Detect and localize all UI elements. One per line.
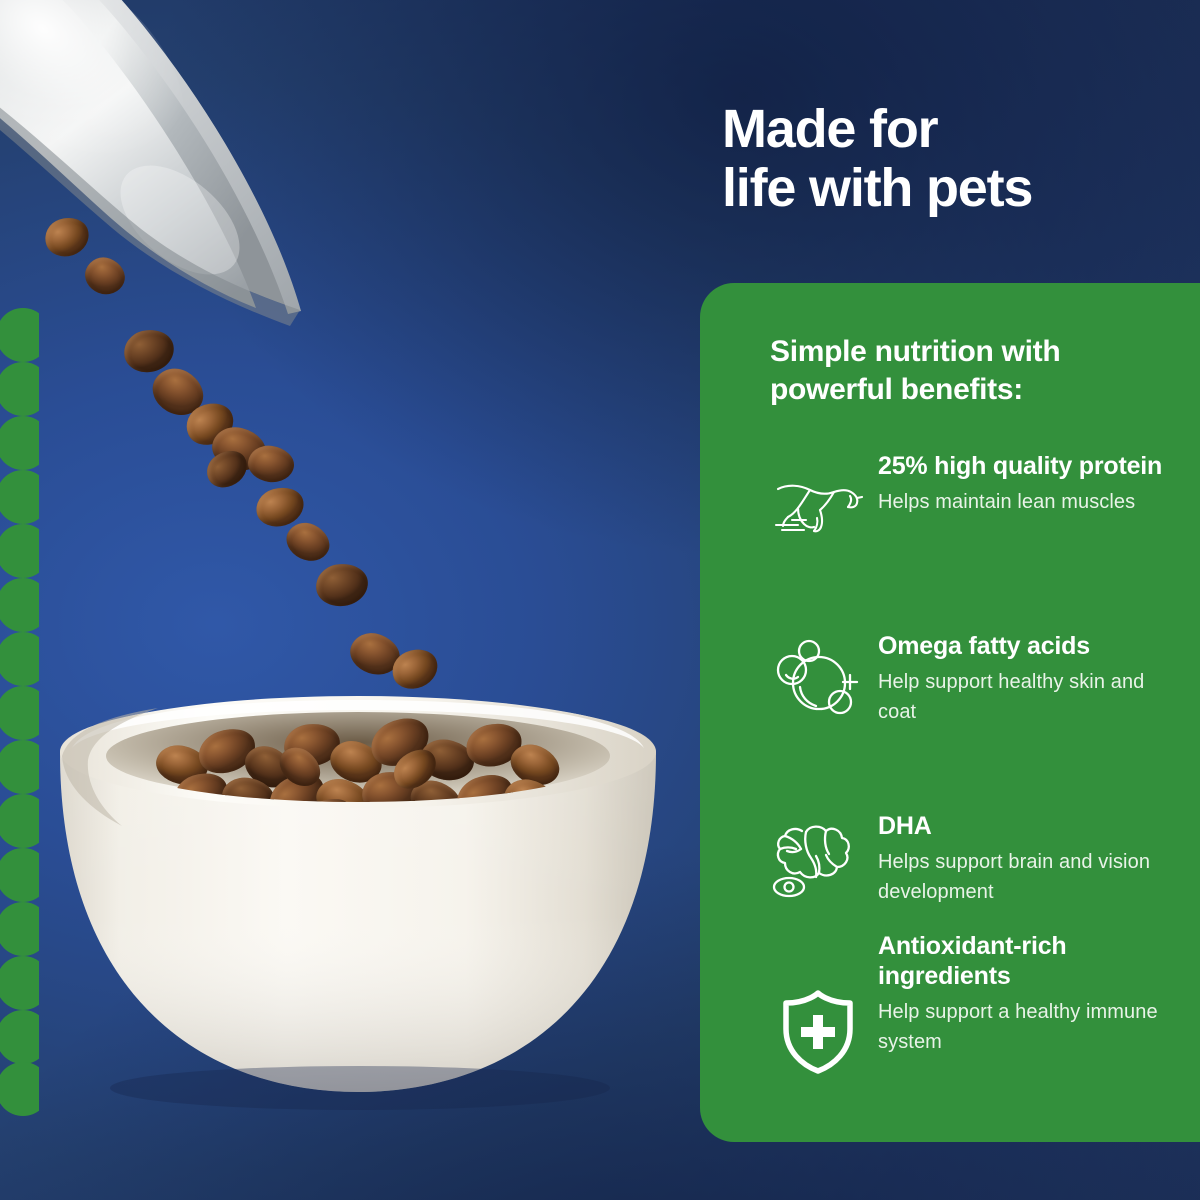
panel-title: Simple nutrition with powerful benefits: bbox=[770, 333, 1170, 409]
omega-oil-droplets-icon bbox=[770, 639, 866, 717]
benefit-subtext: Helps support brain and vision developme… bbox=[878, 847, 1182, 908]
benefit-item-omega: Omega fatty acids Help support healthy s… bbox=[770, 631, 1182, 728]
benefit-heading: DHA bbox=[878, 811, 1182, 841]
brain-eye-icon bbox=[770, 817, 866, 899]
benefit-item-protein: 25% high quality protein Helps maintain … bbox=[770, 451, 1182, 517]
benefit-item-antioxidant: Antioxidant-rich ingredients Help suppor… bbox=[770, 931, 1182, 1058]
shield-plus-icon bbox=[770, 989, 866, 1075]
benefit-heading: Omega fatty acids bbox=[878, 631, 1182, 661]
benefit-heading: 25% high quality protein bbox=[878, 451, 1182, 481]
benefit-subtext: Helps maintain lean muscles bbox=[878, 487, 1182, 517]
benefit-item-dha: DHA Helps support brain and vision devel… bbox=[770, 811, 1182, 908]
headline-line-2: life with pets bbox=[722, 159, 1192, 218]
benefit-heading: Antioxidant-rich ingredients bbox=[878, 931, 1182, 991]
benefits-panel: Simple nutrition with powerful benefits: bbox=[700, 283, 1200, 1142]
running-dog-icon bbox=[770, 477, 866, 535]
headline-line-1: Made for bbox=[722, 100, 1192, 159]
marketing-image: Made for life with pets Simple nutrition… bbox=[0, 0, 1200, 1200]
panel-title-line-2: powerful benefits: bbox=[770, 371, 1170, 409]
benefit-subtext: Help support a healthy immune system bbox=[878, 997, 1182, 1058]
benefit-subtext: Help support healthy skin and coat bbox=[878, 667, 1182, 728]
panel-title-line-1: Simple nutrition with bbox=[770, 333, 1170, 371]
headline: Made for life with pets bbox=[722, 100, 1192, 219]
